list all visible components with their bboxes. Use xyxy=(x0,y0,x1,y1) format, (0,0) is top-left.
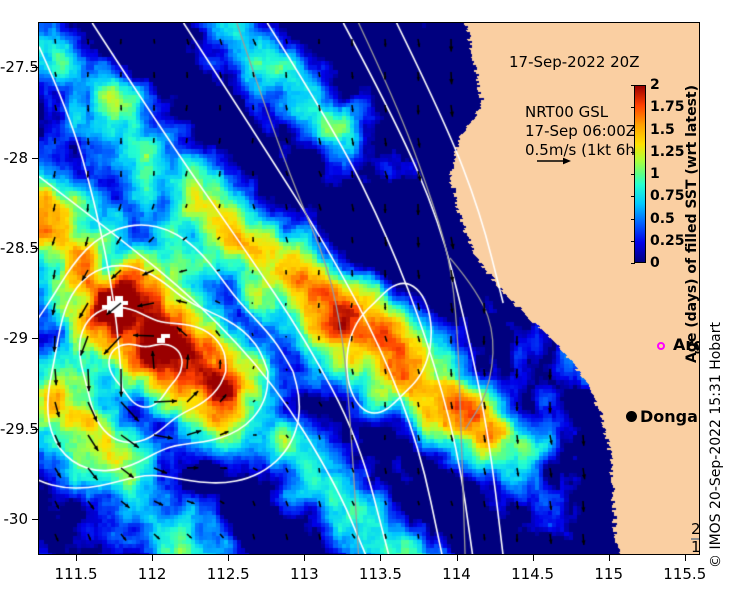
x-axis-tick xyxy=(76,555,77,561)
x-axis-tick xyxy=(228,555,229,561)
y-axis-label: -28.5 xyxy=(0,239,28,257)
colorbar-tick-label: 1 xyxy=(650,166,660,182)
colorbar-tick-label: 0.75 xyxy=(650,188,685,204)
colorbar-title: Age (days) of filled SST (wrt latest) xyxy=(684,85,700,363)
depth-scale-200m-label: 200m xyxy=(691,520,700,538)
product-name: NRT00 GSL xyxy=(525,103,608,121)
dongara-city-label: Dongara xyxy=(640,407,700,426)
x-axis-tick xyxy=(609,555,610,561)
colorbar-tick-label: 1.5 xyxy=(650,122,675,138)
colorbar-gradient xyxy=(634,85,646,263)
product-annotation: NRT00 GSL17-Sep 06:00Z0.5m/s (1kt 6h) xyxy=(525,103,641,160)
x-axis-label: 111.5 xyxy=(36,565,116,583)
map-date-title: 17-Sep-2022 20Z xyxy=(509,53,640,72)
colorbar-tick-label: 0.5 xyxy=(650,211,675,227)
y-axis-label: -29.5 xyxy=(0,420,28,438)
colorbar-tick-label: 1.25 xyxy=(650,144,685,160)
x-axis-label: 113.5 xyxy=(340,565,420,583)
x-axis-label: 115 xyxy=(569,565,649,583)
y-axis-tick xyxy=(32,338,38,339)
colorbar-tick-label: 0 xyxy=(650,255,660,271)
colorbar-tick xyxy=(631,85,635,86)
arrow-right-icon xyxy=(537,156,571,166)
x-axis-label: 114 xyxy=(417,565,497,583)
colorbar-tick-label: 1.75 xyxy=(650,99,685,115)
colorbar-tick xyxy=(631,130,635,131)
y-axis-tick xyxy=(32,158,38,159)
x-axis-tick xyxy=(152,555,153,561)
x-axis-tick xyxy=(685,555,686,561)
x-axis-label: 113 xyxy=(264,565,344,583)
colorbar-tick xyxy=(631,152,635,153)
argo-float-marker-icon xyxy=(657,342,665,350)
colorbar-tick xyxy=(631,219,635,220)
colorbar-tick-label: 0.25 xyxy=(650,233,685,249)
colorbar-tick xyxy=(631,196,635,197)
x-axis-tick xyxy=(457,555,458,561)
x-axis-label: 112 xyxy=(112,565,192,583)
colorbar[interactable]: 00.250.50.7511.251.51.752 xyxy=(634,85,646,263)
x-axis-tick xyxy=(304,555,305,561)
y-axis-label: -27.5 xyxy=(0,58,28,76)
x-axis-tick xyxy=(533,555,534,561)
x-axis-label: 112.5 xyxy=(188,565,268,583)
x-axis-label: 114.5 xyxy=(493,565,573,583)
colorbar-tick-label: 2 xyxy=(650,77,660,93)
colorbar-tick xyxy=(631,263,635,264)
colorbar-tick xyxy=(631,241,635,242)
colorbar-tick xyxy=(631,174,635,175)
y-axis-label: -28 xyxy=(0,149,28,167)
colorbar-tick xyxy=(631,107,635,108)
credit-text: © IMOS 20-Sep-2022 15:31 Hobart xyxy=(708,322,724,568)
dongara-city-marker-icon xyxy=(626,411,637,422)
x-axis-tick xyxy=(380,555,381,561)
y-axis-tick xyxy=(32,519,38,520)
product-time: 17-Sep 06:00Z xyxy=(525,122,636,140)
y-axis-label: -30 xyxy=(0,510,28,528)
y-axis-label: -29 xyxy=(0,329,28,347)
depth-scale-1000m-label: 1000m xyxy=(691,538,700,555)
map-plot-area[interactable]: 17-Sep-2022 20Z NRT00 GSL17-Sep 06:00Z0.… xyxy=(38,22,700,555)
